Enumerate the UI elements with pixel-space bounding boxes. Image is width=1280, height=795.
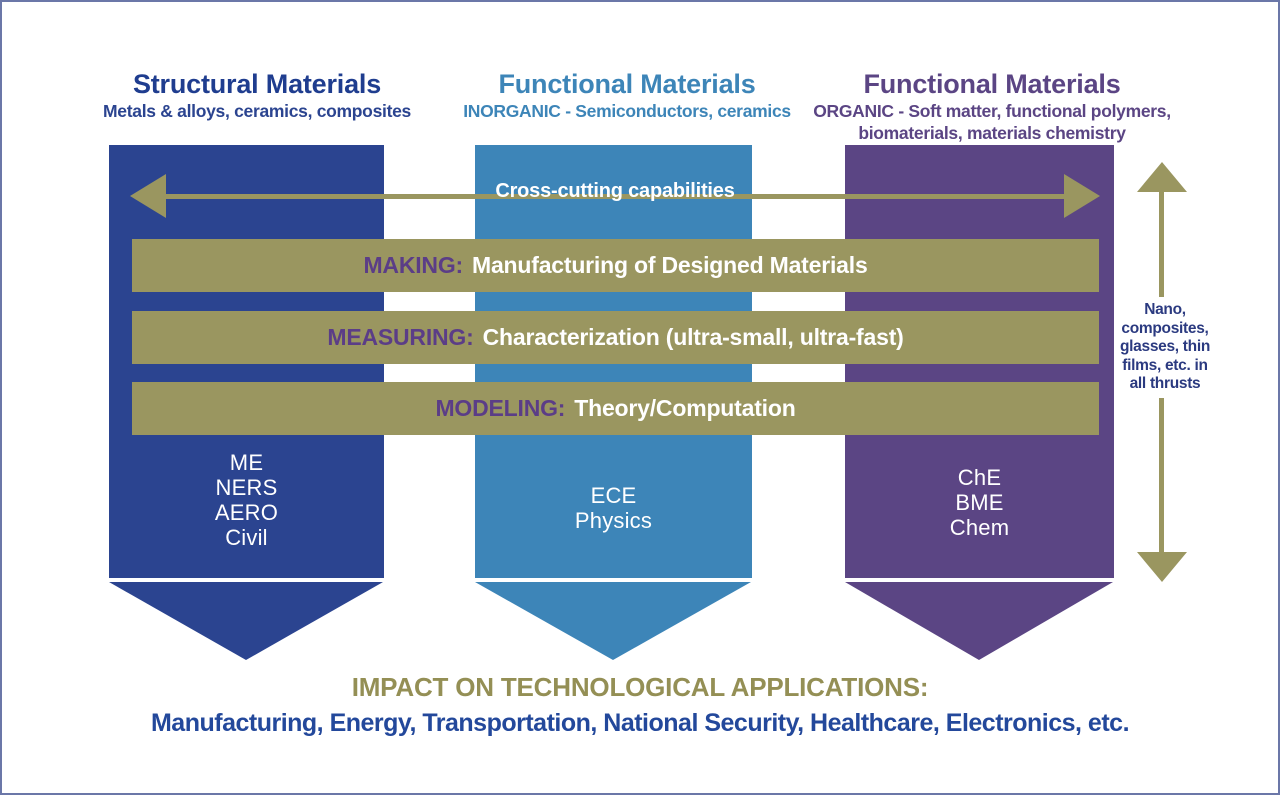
down-arrow-structural xyxy=(109,582,383,660)
diagram-canvas: Structural Materials Metals & alloys, ce… xyxy=(0,0,1280,795)
capability-text-making: MAKING:Manufacturing of Designed Materia… xyxy=(363,252,867,279)
capability-key-making: MAKING: xyxy=(363,252,463,278)
column-header-organic: Functional Materials ORGANIC - Soft matt… xyxy=(792,68,1192,144)
department-list-organic: ChEBMEChem xyxy=(845,465,1114,540)
capability-bar-measuring: MEASURING:Characterization (ultra-small,… xyxy=(132,311,1099,364)
capability-key-modeling: MODELING: xyxy=(435,395,565,421)
capability-value-modeling: Theory/Computation xyxy=(574,395,795,421)
column-subtitle-inorganic: INORGANIC - Semiconductors, ceramics xyxy=(432,100,822,122)
column-subtitle-organic: ORGANIC - Soft matter, functional polyme… xyxy=(792,100,1192,144)
capability-bar-making: MAKING:Manufacturing of Designed Materia… xyxy=(132,239,1099,292)
capability-key-measuring: MEASURING: xyxy=(327,324,473,350)
arrow-head-down-icon xyxy=(1137,552,1187,582)
impact-list: Manufacturing, Energy, Transportation, N… xyxy=(2,704,1278,742)
capability-text-modeling: MODELING:Theory/Computation xyxy=(435,395,795,422)
down-arrow-inorganic xyxy=(475,582,751,660)
crosscutting-arrow: Cross-cutting capabilities xyxy=(130,170,1100,226)
column-title-inorganic: Functional Materials xyxy=(432,68,822,100)
nano-label: Nano, composites, glasses, thin films, e… xyxy=(1120,297,1210,398)
down-arrow-organic xyxy=(845,582,1113,660)
crosscutting-label-wrap: Cross-cutting capabilities xyxy=(130,180,1100,203)
capability-value-making: Manufacturing of Designed Materials xyxy=(472,252,868,278)
capability-bar-modeling: MODELING:Theory/Computation xyxy=(132,382,1099,435)
column-title-organic: Functional Materials xyxy=(792,68,1192,100)
department-list-structural: MENERSAEROCivil xyxy=(109,450,384,550)
impact-title: IMPACT ON TECHNOLOGICAL APPLICATIONS: xyxy=(2,670,1278,704)
column-title-structural: Structural Materials xyxy=(62,68,452,100)
column-header-structural: Structural Materials Metals & alloys, ce… xyxy=(62,68,452,122)
column-subtitle-structural: Metals & alloys, ceramics, composites xyxy=(62,100,452,122)
column-header-inorganic: Functional Materials INORGANIC - Semicon… xyxy=(432,68,822,122)
crosscutting-label: Cross-cutting capabilities xyxy=(487,180,742,202)
capability-text-measuring: MEASURING:Characterization (ultra-small,… xyxy=(327,324,903,351)
capability-value-measuring: Characterization (ultra-small, ultra-fas… xyxy=(483,324,904,350)
department-list-inorganic: ECEPhysics xyxy=(475,483,752,533)
impact-section: IMPACT ON TECHNOLOGICAL APPLICATIONS: Ma… xyxy=(2,670,1278,742)
